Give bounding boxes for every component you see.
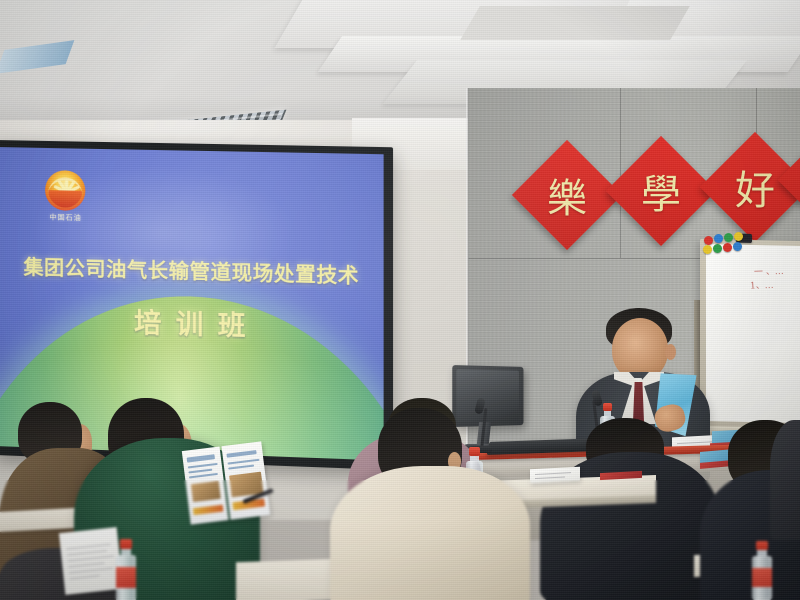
water-bottle[interactable] — [752, 542, 772, 600]
wall-placard-diamond: 學 — [606, 136, 716, 246]
ceiling-coffer-inner — [460, 6, 690, 40]
whiteboard-handwriting: 一 、… — [754, 267, 784, 279]
wall-corner-edge — [466, 88, 469, 488]
placard-character: 勤 — [790, 150, 800, 210]
ceiling-light-slit — [0, 40, 74, 74]
brochure-text-line — [228, 459, 260, 465]
attendee-jacket — [330, 466, 530, 600]
placard-character: 好 — [716, 148, 794, 226]
presenter-head — [612, 318, 668, 380]
whiteboard-magnet[interactable] — [724, 233, 733, 242]
whiteboard-magnet[interactable] — [704, 236, 713, 245]
paper-line — [67, 550, 107, 555]
paper-line — [68, 563, 104, 568]
whiteboard-magnet[interactable] — [713, 244, 722, 253]
documents-on-table — [530, 467, 580, 484]
wall-panel-seam — [620, 88, 621, 258]
placard-character: 樂 — [528, 156, 606, 234]
bottle-cap — [603, 403, 613, 411]
whiteboard-handwriting: 1、… — [750, 281, 774, 293]
brochure-image — [191, 481, 221, 502]
placard-character: 學 — [622, 152, 700, 230]
presenter-ear — [665, 344, 676, 360]
whiteboard: 一 、… 1、… — [700, 239, 800, 439]
bottle-cap — [469, 447, 480, 455]
brochure-text-line — [228, 464, 254, 469]
held-documents — [59, 527, 123, 595]
brochure-text-block — [226, 450, 256, 458]
whiteboard-magnet[interactable] — [734, 232, 743, 241]
lcd-monitor[interactable] — [452, 366, 526, 426]
paper-line — [67, 544, 111, 550]
water-bottle[interactable] — [116, 540, 136, 600]
wall-placard-diamond: 樂 — [512, 140, 622, 250]
paper-line — [70, 575, 100, 579]
paper-line — [69, 568, 113, 574]
bottle-label — [752, 568, 772, 588]
sun-ray-icon — [66, 181, 76, 194]
brochure-left-page — [182, 447, 229, 525]
cnpc-logo: 中国石油 — [39, 170, 91, 223]
whiteboard-magnet[interactable] — [733, 242, 742, 251]
cnpc-sun-mark — [45, 170, 85, 211]
bottle-cap — [756, 541, 769, 550]
sun-ray-icon — [54, 185, 68, 194]
attendee-far-right — [770, 420, 800, 540]
brochure-text-line — [189, 473, 218, 479]
logo-arc-shape — [48, 178, 82, 196]
open-brochure[interactable] — [182, 441, 270, 524]
sun-ray-icon — [58, 180, 68, 193]
brochure-text-line — [188, 469, 212, 474]
brochure-text-line — [188, 463, 218, 469]
sun-ray-icon — [66, 186, 80, 195]
whiteboard-magnet[interactable] — [723, 243, 732, 252]
bottle-cap — [120, 539, 133, 548]
brochure-accent-bar — [193, 505, 224, 516]
conference-room-photo: 樂 學 好 勤 — [0, 0, 800, 600]
logo-bowl-shape — [48, 191, 82, 209]
whiteboard-magnet[interactable] — [703, 245, 712, 254]
slide-title: 集团公司油气长输管道现场处置技术 — [0, 250, 384, 289]
paper-line — [535, 476, 565, 479]
cnpc-wordmark: 中国石油 — [39, 212, 91, 223]
sun-icon — [45, 170, 85, 211]
bottle-label — [116, 567, 136, 588]
sun-ray-icon — [66, 179, 69, 193]
brochure-text-block — [187, 454, 215, 462]
paper-line — [68, 556, 114, 562]
bottle-neck — [604, 410, 611, 416]
monitor-panel-rear — [452, 365, 523, 427]
whiteboard-magnet[interactable] — [714, 234, 723, 243]
paper-line — [535, 472, 571, 475]
whiteboard-surface: 一 、… 1、… — [706, 244, 800, 423]
